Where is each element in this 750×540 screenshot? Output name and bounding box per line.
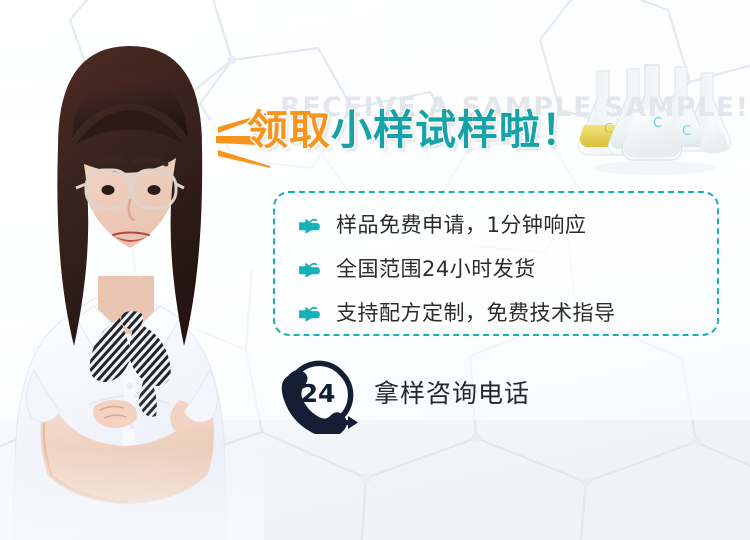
phone-24h-icon: 24 <box>276 350 360 434</box>
feature-item-label: 支持配方定制，免费技术指导 <box>336 297 616 327</box>
headline-part-a: 领取 <box>247 106 331 154</box>
headline-part-b: 小样试样啦！ <box>331 106 583 154</box>
pointing-hand-icon <box>296 214 322 234</box>
feature-item: 全国范围24小时发货 <box>296 246 716 290</box>
feature-item: 支持配方定制，免费技术指导 <box>296 290 716 334</box>
contact-row: 24 拿样咨询电话 <box>276 350 530 434</box>
feature-item: 样品免费申请，1分钟响应 <box>296 202 716 246</box>
feature-item-label: 样品免费申请，1分钟响应 <box>336 209 586 239</box>
pointing-hand-icon <box>296 258 322 278</box>
portrait-image <box>0 18 264 540</box>
headline: 领取小样试样啦！ <box>247 106 583 154</box>
promo-banner: C C C C <box>0 0 750 540</box>
contact-label: 拿样咨询电话 <box>374 374 530 410</box>
feature-item-label: 全国范围24小时发货 <box>336 253 536 283</box>
phone-badge-number: 24 <box>301 379 336 408</box>
pointing-hand-icon <box>296 302 322 322</box>
feature-list: 样品免费申请，1分钟响应 全国范围24小时发货 支持配方定制，免费技术指导 <box>296 202 716 334</box>
svg-text:C: C <box>682 124 691 139</box>
